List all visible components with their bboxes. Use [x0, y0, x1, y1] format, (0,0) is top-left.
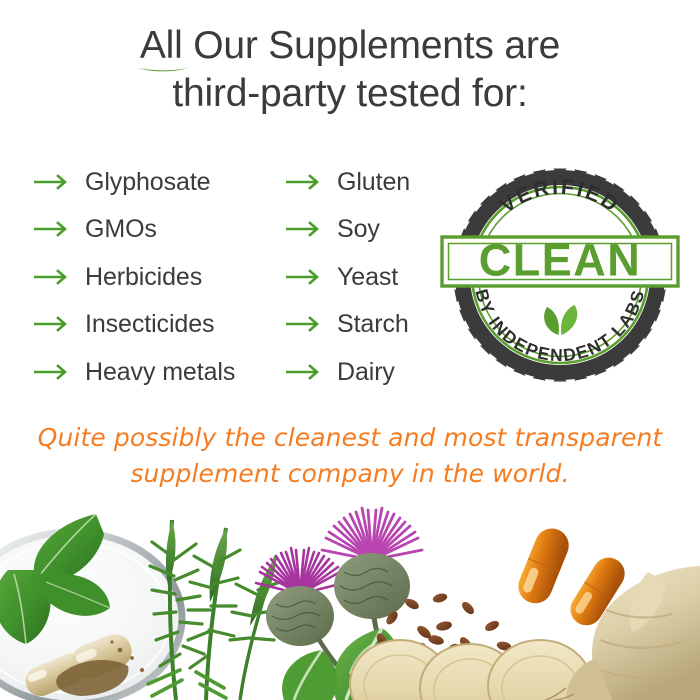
list-item-label: Dairy: [337, 359, 395, 385]
tagline-line-1: Quite possibly the cleanest and most tra…: [0, 420, 700, 456]
tagline-line-2: supplement company in the world.: [0, 456, 700, 492]
headline-line-1: All Our Supplements are: [0, 22, 700, 70]
list-item: Dairy: [286, 348, 410, 396]
list-item: Gluten: [286, 158, 410, 206]
page-title: All Our Supplements are third-party test…: [0, 22, 700, 118]
arrow-right-icon: [286, 220, 324, 238]
list-item-label: Gluten: [337, 169, 410, 195]
arrow-right-icon: [34, 268, 72, 286]
list-item: Starch: [286, 301, 410, 349]
supplement-testing-infographic: All Our Supplements are third-party test…: [0, 0, 700, 700]
arrow-right-icon: [286, 173, 324, 191]
arrow-right-icon: [34, 173, 72, 191]
list-item-label: Yeast: [337, 264, 398, 290]
checklist-column-right: Gluten Soy Yeast Starch Dairy: [286, 158, 410, 396]
seal-clean-banner: CLEAN: [442, 235, 678, 287]
arrow-right-icon: [34, 315, 72, 333]
list-item: Herbicides: [34, 253, 235, 301]
list-item-label: Glyphosate: [85, 169, 210, 195]
list-item-label: Insecticides: [85, 311, 214, 337]
verified-clean-seal: VERIFIED BY INDEPENDENT LABS CLEAN: [443, 163, 677, 383]
list-item-label: Soy: [337, 216, 380, 242]
list-item-label: Herbicides: [85, 264, 202, 290]
green-brush-underline-icon: [137, 64, 191, 73]
list-item: Heavy metals: [34, 348, 235, 396]
arrow-right-icon: [286, 363, 324, 381]
list-item: Insecticides: [34, 301, 235, 349]
list-item: Soy: [286, 206, 410, 254]
list-item: Glyphosate: [34, 158, 235, 206]
sliced-ginger-rounds: [350, 640, 592, 700]
list-item-label: Starch: [337, 311, 409, 337]
arrow-right-icon: [34, 363, 72, 381]
arrow-right-icon: [286, 315, 324, 333]
list-item-label: GMOs: [85, 216, 157, 242]
seal-banner-text: CLEAN: [479, 235, 642, 286]
list-item: Yeast: [286, 253, 410, 301]
checklist-column-left: Glyphosate GMOs Herbicides Insecticides …: [34, 158, 235, 396]
list-item: GMOs: [34, 206, 235, 254]
list-item-label: Heavy metals: [85, 359, 235, 385]
headline-line-2: third-party tested for:: [0, 70, 700, 118]
ingredient-photo-strip-graphic: [0, 498, 700, 700]
ingredient-photo-strip: [0, 498, 700, 700]
arrow-right-icon: [286, 268, 324, 286]
arrow-right-icon: [34, 220, 72, 238]
headline-emphasis-word: All: [140, 22, 183, 70]
verified-clean-seal-graphic: VERIFIED BY INDEPENDENT LABS CLEAN: [443, 163, 677, 383]
tagline: Quite possibly the cleanest and most tra…: [0, 420, 700, 492]
